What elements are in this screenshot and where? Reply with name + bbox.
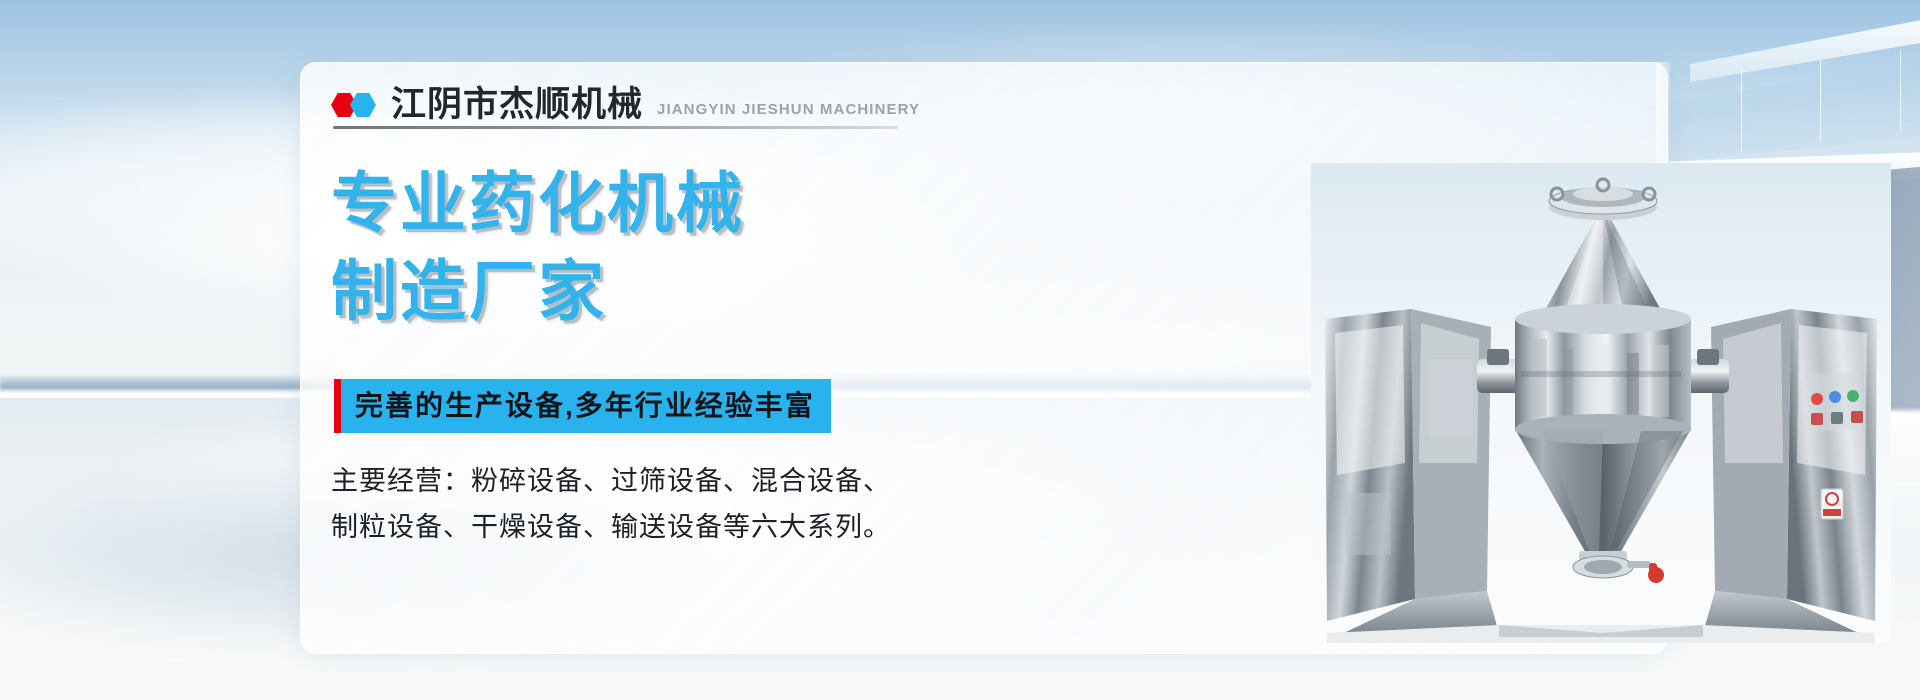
headline: 专业药化机械 制造厂家 <box>331 160 745 336</box>
company-name-en: JIANGYIN JIESHUN MACHINERY <box>657 102 920 117</box>
product-photo <box>1311 163 1891 643</box>
railing-mullion <box>1820 60 1821 142</box>
content-card: 江阴市杰顺机械 JIANGYIN JIESHUN MACHINERY 专业药化机… <box>300 62 1668 654</box>
company-logo-icon <box>331 93 377 117</box>
headline-line-2: 制造厂家 <box>331 248 745 336</box>
brand-header: 江阴市杰顺机械 JIANGYIN JIESHUN MACHINERY <box>331 87 920 122</box>
railing-mullion <box>1741 70 1742 152</box>
hexagon-blue-icon <box>350 93 376 117</box>
tagline-accent-bar <box>334 379 341 433</box>
promotional-banner: 江阴市杰顺机械 JIANGYIN JIESHUN MACHINERY 专业药化机… <box>0 0 1920 700</box>
description-line-2: 制粒设备、干燥设备、输送设备等六大系列。 <box>331 504 891 550</box>
headline-line-1: 专业药化机械 <box>331 160 745 248</box>
brand-divider <box>333 126 898 129</box>
description-line-1: 主要经营：粉碎设备、过筛设备、混合设备、 <box>331 458 891 504</box>
railing-mullion <box>1900 50 1901 132</box>
tagline-band: 完善的生产设备,多年行业经验丰富 <box>334 379 831 433</box>
glass-railing <box>1648 58 1920 165</box>
description: 主要经营：粉碎设备、过筛设备、混合设备、 制粒设备、干燥设备、输送设备等六大系列… <box>331 458 891 551</box>
tagline-text: 完善的生产设备,多年行业经验丰富 <box>341 379 831 433</box>
company-name-cn: 江阴市杰顺机械 <box>391 87 643 122</box>
